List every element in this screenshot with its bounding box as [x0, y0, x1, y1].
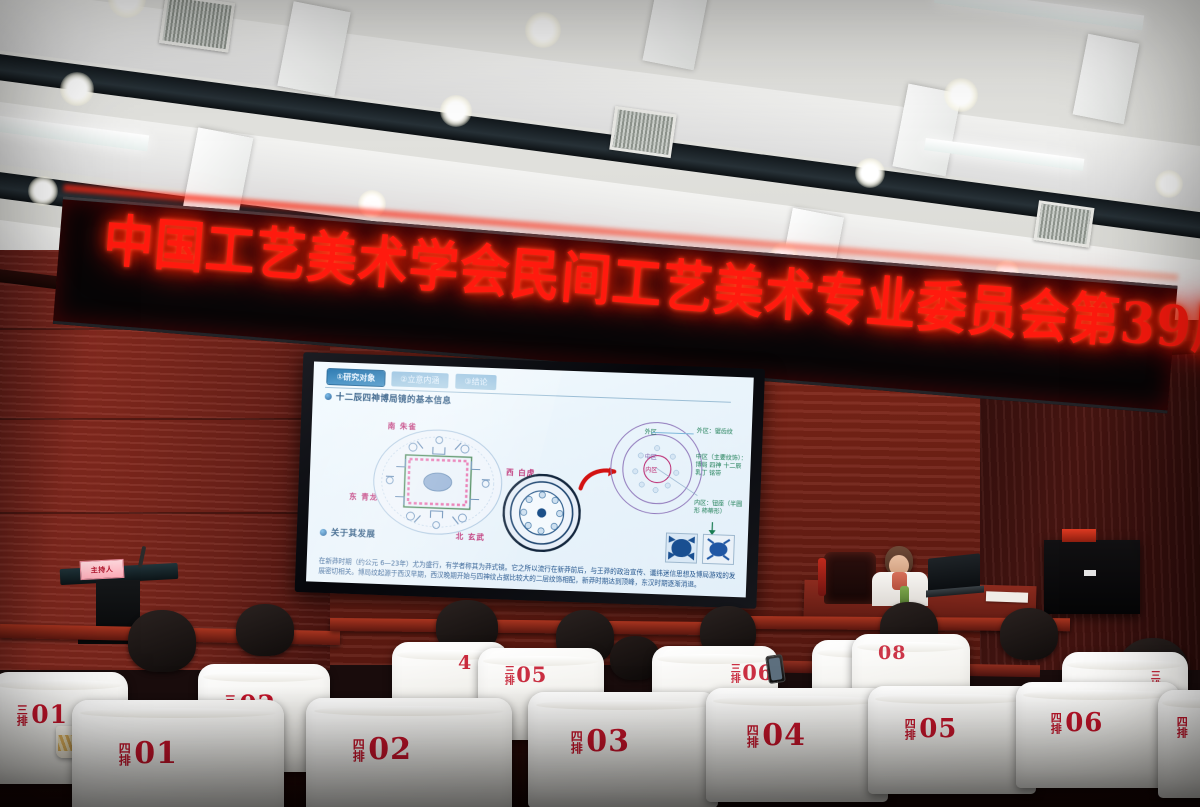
attendee-head: [1000, 608, 1058, 660]
air-vent-icon: [1033, 200, 1094, 247]
seat-row-label: 四排: [746, 724, 758, 748]
annotation-outer: 外区：锯齿纹: [697, 428, 733, 437]
zone-diagram: 外区 中区 内区: [609, 420, 704, 515]
seat-number-label: 01: [134, 736, 178, 771]
seat-number-label: 05: [919, 714, 957, 744]
seat-row-label: 四排: [904, 718, 915, 740]
tlv-mirror-drawing: [370, 426, 506, 539]
slide-footer-lead-row: 关于其发展: [320, 526, 376, 540]
ceiling-panel: [642, 0, 709, 70]
seat-cover-row4-04: 四排 04: [706, 688, 888, 802]
slide-tab-conclusion[interactable]: ③结论: [455, 374, 497, 390]
air-vent-icon: [609, 106, 677, 158]
slide-footer-lead: 关于其发展: [331, 526, 376, 540]
papers-on-table: [986, 591, 1028, 602]
presentation-slide: ①研究对象 ②立意内涵 ③结论 十二辰四神博局镜的基本信息 南 朱雀 东 青龙 …: [306, 361, 754, 597]
slide-heading: 十二辰四神博局镜的基本信息: [336, 390, 452, 406]
slide-heading-row: 十二辰四神博局镜的基本信息: [325, 390, 452, 407]
seat-number-label: 02: [368, 732, 412, 767]
attendee-head: [128, 610, 196, 672]
slide-tab-research-object[interactable]: ①研究对象: [327, 369, 384, 386]
seat-row-label: 三排: [16, 704, 27, 726]
seat-number-label: 04: [762, 718, 806, 753]
seat-number-label: 03: [586, 724, 630, 759]
seat-number-label: 01: [31, 700, 68, 729]
presenter-chair: [824, 552, 876, 604]
seat-cover-row4-03: 四排 03: [528, 692, 718, 807]
bullet-dot-icon: [320, 528, 327, 535]
seat-cover-row4-07: 四排: [1158, 690, 1200, 798]
attendee-head: [236, 604, 294, 656]
seat-row-label: 三排: [728, 663, 738, 683]
annotation-inner: 内区：钮座（半圆形 柿蒂形）: [694, 500, 745, 518]
seat-cover-row4-01: 四排 01: [72, 700, 284, 807]
zone-label-inner: 内区: [645, 465, 657, 474]
annotation-middle: 中区（主要纹饰）：博局 四神 十二辰 乳丁 铭带: [695, 454, 748, 480]
seat-row-label: 四排: [1176, 716, 1187, 738]
conference-hall-photo: 中国工艺美术学会民间工艺美术专业委员会第39届学术年会（学术论坛） ①研究对象 …: [0, 0, 1200, 807]
seat-row-label: 三排: [502, 665, 512, 685]
moderator-sign: 主持人: [80, 559, 125, 580]
seat-number-label: 06: [1065, 708, 1103, 738]
round-mirror-drawing: [501, 473, 582, 554]
bullet-dot-icon: [325, 392, 332, 399]
projection-screen: ①研究对象 ②立意内涵 ③结论 十二辰四神博局镜的基本信息 南 朱雀 东 青龙 …: [295, 352, 765, 609]
seat-cover-row4-05: 四排 05: [868, 686, 1036, 794]
zone-label-middle: 中区: [645, 452, 657, 461]
seat-row-label: 四排: [352, 738, 364, 762]
knob-photo-b: [702, 534, 735, 565]
knob-photo-a: [665, 532, 698, 563]
seat-number-label: 08: [878, 642, 906, 664]
seat-row-label: 四排: [1050, 712, 1061, 734]
seat-cover-row4-02: 四排 02: [306, 698, 512, 807]
seat-number-label: 05: [516, 662, 547, 687]
seat-cover-row4-06: 四排 06: [1016, 682, 1180, 788]
seat-row-label: 四排: [570, 730, 582, 754]
ceiling-panel: [1073, 34, 1140, 124]
laptop: [928, 556, 984, 598]
slide-tab-connotation[interactable]: ②立意内涵: [391, 371, 449, 388]
av-console: [1044, 540, 1140, 614]
seat-row-label: 四排: [118, 742, 130, 766]
